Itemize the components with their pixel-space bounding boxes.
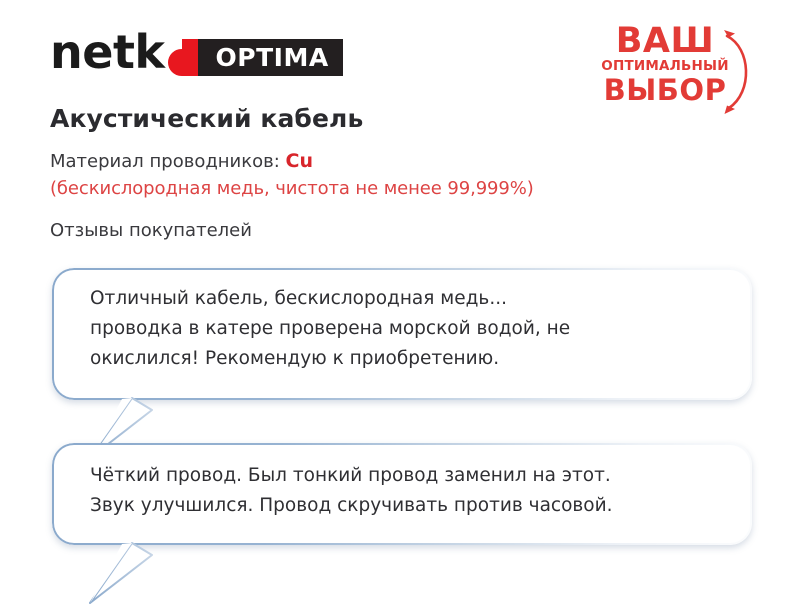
badge-text-stack: ВАШ ОПТИМАЛЬНЫЙ ВЫБОР — [601, 24, 729, 105]
promo-banner: netk OPTIMA ВАШ ОПТИМАЛЬНЫЙ ВЫБОР Акусти… — [0, 0, 800, 600]
bubble-tail-icon — [88, 541, 168, 611]
optima-badge: OPTIMA — [190, 39, 343, 76]
logo-wordmark: netk — [50, 29, 165, 75]
purity-note: (бескислородная медь, чистота не менее 9… — [50, 178, 534, 199]
curved-double-arrow-icon — [721, 26, 765, 116]
optima-label: OPTIMA — [216, 45, 329, 70]
badge-line-vash: ВАШ — [601, 24, 729, 58]
material-line: Материал проводников: Cu — [50, 150, 313, 172]
netko-optima-logo: netk OPTIMA — [50, 26, 343, 82]
review-text: Отличный кабель, бескислородная медь... … — [52, 268, 752, 374]
material-label: Материал проводников: — [50, 151, 280, 172]
review-bubble: Отличный кабель, бескислородная медь... … — [52, 268, 752, 400]
review-text: Чёткий провод. Был тонкий провод заменил… — [52, 443, 752, 521]
your-optimal-choice-badge: ВАШ ОПТИМАЛЬНЫЙ ВЫБОР — [601, 24, 766, 116]
red-circle-icon — [168, 49, 195, 76]
reviews-heading: Отзывы покупателей — [50, 220, 252, 241]
material-value: Cu — [286, 150, 313, 172]
badge-line-vybor: ВЫБОР — [601, 75, 729, 105]
review-bubble: Чёткий провод. Был тонкий провод заменил… — [52, 443, 752, 545]
page-title: Акустический кабель — [50, 104, 363, 133]
